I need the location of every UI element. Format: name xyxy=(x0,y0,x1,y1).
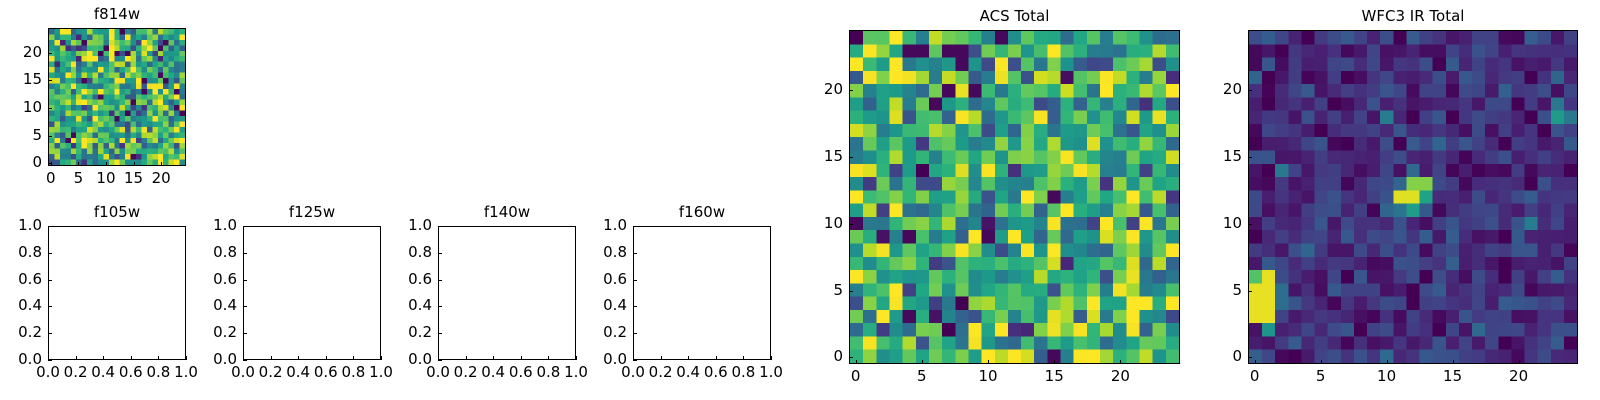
f105w-ytick-label: 0.2 xyxy=(0,325,42,340)
f140w-ytick-label: 0.4 xyxy=(370,298,432,313)
acs-total-xtick-label: 20 xyxy=(1090,369,1150,384)
f160w-ytick-label: 0.4 xyxy=(565,298,627,313)
f105w-ytick-mark xyxy=(48,280,52,281)
f105w-xtick-mark xyxy=(158,356,159,360)
f125w-ytick-label: 0.6 xyxy=(175,272,237,287)
f125w-ytick-mark xyxy=(243,226,247,227)
f160w-xtick-mark xyxy=(771,356,772,360)
f105w-title: f105w xyxy=(48,205,186,220)
acs-total-xtick-label: 0 xyxy=(826,369,886,384)
wfc3-ir-total-ytick-mark xyxy=(1248,291,1252,292)
f160w-ytick-label: 1.0 xyxy=(565,218,627,233)
f140w-ytick-label: 0.2 xyxy=(370,325,432,340)
wfc3-ir-total-xtick-label: 10 xyxy=(1357,369,1417,384)
f160w-xtick-mark xyxy=(743,356,744,360)
f160w-ytick-label: 0.2 xyxy=(565,325,627,340)
wfc3-ir-total-xtick-label: 20 xyxy=(1489,369,1549,384)
f105w-xtick-mark xyxy=(131,356,132,360)
f140w-ytick-label: 0.8 xyxy=(370,245,432,260)
f814w-ytick-mark xyxy=(48,53,52,54)
f140w-ytick-mark xyxy=(438,333,442,334)
f125w-ytick-label: 0.2 xyxy=(175,325,237,340)
wfc3-ir-total-xtick-mark xyxy=(1453,360,1454,364)
f160w-ytick-mark xyxy=(633,360,637,361)
wfc3-ir-total-title: WFC3 IR Total xyxy=(1248,9,1578,24)
f105w-ytick-mark xyxy=(48,306,52,307)
f160w-ytick-mark xyxy=(633,333,637,334)
f125w-axes xyxy=(243,226,381,360)
f160w-ytick-mark xyxy=(633,306,637,307)
acs-total-xtick-label: 10 xyxy=(958,369,1018,384)
f125w-xtick-mark xyxy=(353,356,354,360)
f814w-ytick-label: 20 xyxy=(0,45,42,60)
f160w-xtick-mark xyxy=(716,356,717,360)
wfc3-ir-total-ytick-label: 10 xyxy=(1180,216,1242,231)
acs-total-ytick-label: 10 xyxy=(781,216,843,231)
acs-total-ytick-mark xyxy=(849,357,853,358)
f125w-ytick-mark xyxy=(243,253,247,254)
f140w-title: f140w xyxy=(438,205,576,220)
f160w-xtick-mark xyxy=(688,356,689,360)
f105w-ytick-label: 1.0 xyxy=(0,218,42,233)
acs-total-axes xyxy=(849,30,1180,364)
f125w-ytick-mark xyxy=(243,280,247,281)
f814w-xtick-mark xyxy=(161,162,162,166)
wfc3-ir-total-xtick-label: 0 xyxy=(1225,369,1285,384)
acs-total-image xyxy=(850,31,1179,363)
f160w-xtick-label: 1.0 xyxy=(741,365,801,380)
f814w-xtick-label: 20 xyxy=(131,171,191,186)
f105w-ytick-label: 0.4 xyxy=(0,298,42,313)
f105w-axes xyxy=(48,226,186,360)
f160w-ytick-mark xyxy=(633,253,637,254)
wfc3-ir-total-xtick-mark xyxy=(1255,360,1256,364)
f160w-ytick-label: 0.6 xyxy=(565,272,627,287)
wfc3-ir-total-ytick-mark xyxy=(1248,157,1252,158)
wfc3-ir-total-ytick-label: 20 xyxy=(1180,82,1242,97)
f105w-xtick-mark xyxy=(103,356,104,360)
acs-total-xtick-mark xyxy=(1120,360,1121,364)
f105w-ytick-label: 0.6 xyxy=(0,272,42,287)
f125w-xtick-label: 1.0 xyxy=(351,365,411,380)
f160w-ytick-label: 0.0 xyxy=(565,352,627,367)
f814w-ytick-label: 0 xyxy=(0,155,42,170)
f125w-ytick-mark xyxy=(243,306,247,307)
f814w-ytick-label: 15 xyxy=(0,72,42,87)
f140w-xtick-mark xyxy=(548,356,549,360)
f125w-xtick-mark xyxy=(271,356,272,360)
f125w-ytick-mark xyxy=(243,333,247,334)
f814w-image xyxy=(49,29,185,165)
f105w-xtick-mark xyxy=(76,356,77,360)
f140w-ytick-mark xyxy=(438,360,442,361)
f814w-ytick-mark xyxy=(48,163,52,164)
f125w-ytick-label: 1.0 xyxy=(175,218,237,233)
acs-total-title: ACS Total xyxy=(849,9,1180,24)
f814w-ytick-mark xyxy=(48,136,52,137)
acs-total-ytick-mark xyxy=(849,291,853,292)
f140w-axes xyxy=(438,226,576,360)
f140w-ytick-label: 0.0 xyxy=(370,352,432,367)
wfc3-ir-total-xtick-mark xyxy=(1519,360,1520,364)
f140w-xtick-label: 1.0 xyxy=(546,365,606,380)
f140w-ytick-mark xyxy=(438,306,442,307)
f140w-ytick-mark xyxy=(438,280,442,281)
acs-total-xtick-mark xyxy=(988,360,989,364)
acs-total-xtick-label: 15 xyxy=(1024,369,1084,384)
f105w-xtick-label: 1.0 xyxy=(156,365,216,380)
f125w-xtick-mark xyxy=(298,356,299,360)
wfc3-ir-total-ytick-label: 5 xyxy=(1180,283,1242,298)
f105w-ytick-label: 0.8 xyxy=(0,245,42,260)
acs-total-xtick-mark xyxy=(922,360,923,364)
f140w-ytick-label: 1.0 xyxy=(370,218,432,233)
wfc3-ir-total-ytick-mark xyxy=(1248,357,1252,358)
matplotlib-figure: f814w0510152005101520f105w0.00.20.40.60.… xyxy=(0,0,1600,400)
wfc3-ir-total-ytick-label: 15 xyxy=(1180,149,1242,164)
f140w-xtick-mark xyxy=(466,356,467,360)
f814w-title: f814w xyxy=(48,7,186,22)
f814w-xtick-mark xyxy=(78,162,79,166)
acs-total-ytick-label: 20 xyxy=(781,82,843,97)
acs-total-ytick-mark xyxy=(849,157,853,158)
f160w-ytick-mark xyxy=(633,280,637,281)
f160w-ytick-mark xyxy=(633,226,637,227)
wfc3-ir-total-xtick-label: 5 xyxy=(1291,369,1351,384)
wfc3-ir-total-ytick-mark xyxy=(1248,224,1252,225)
f160w-axes xyxy=(633,226,771,360)
f140w-ytick-mark xyxy=(438,226,442,227)
acs-total-xtick-mark xyxy=(1054,360,1055,364)
f140w-ytick-label: 0.6 xyxy=(370,272,432,287)
f814w-ytick-label: 10 xyxy=(0,100,42,115)
f140w-ytick-mark xyxy=(438,253,442,254)
f814w-xtick-mark xyxy=(134,162,135,166)
acs-total-ytick-label: 0 xyxy=(781,349,843,364)
f125w-ytick-label: 0.8 xyxy=(175,245,237,260)
wfc3-ir-total-ytick-mark xyxy=(1248,90,1252,91)
f105w-ytick-mark xyxy=(48,253,52,254)
wfc3-ir-total-axes xyxy=(1248,30,1578,364)
f125w-title: f125w xyxy=(243,205,381,220)
f814w-ytick-mark xyxy=(48,80,52,81)
f140w-xtick-mark xyxy=(521,356,522,360)
f125w-ytick-mark xyxy=(243,360,247,361)
acs-total-xtick-label: 5 xyxy=(892,369,952,384)
f125w-ytick-label: 0.0 xyxy=(175,352,237,367)
f105w-ytick-mark xyxy=(48,226,52,227)
f160w-ytick-label: 0.8 xyxy=(565,245,627,260)
acs-total-ytick-label: 5 xyxy=(781,283,843,298)
f814w-axes xyxy=(48,28,186,166)
wfc3-ir-total-xtick-mark xyxy=(1387,360,1388,364)
wfc3-ir-total-image xyxy=(1249,31,1577,363)
f125w-xtick-mark xyxy=(326,356,327,360)
wfc3-ir-total-ytick-label: 0 xyxy=(1180,349,1242,364)
f160w-xtick-mark xyxy=(661,356,662,360)
wfc3-ir-total-xtick-label: 15 xyxy=(1423,369,1483,384)
f125w-ytick-label: 0.4 xyxy=(175,298,237,313)
f105w-ytick-mark xyxy=(48,333,52,334)
wfc3-ir-total-xtick-mark xyxy=(1321,360,1322,364)
f160w-title: f160w xyxy=(633,205,771,220)
f140w-xtick-mark xyxy=(493,356,494,360)
f105w-ytick-label: 0.0 xyxy=(0,352,42,367)
f105w-ytick-mark xyxy=(48,360,52,361)
acs-total-ytick-mark xyxy=(849,224,853,225)
f814w-xtick-mark xyxy=(106,162,107,166)
f814w-ytick-mark xyxy=(48,108,52,109)
acs-total-ytick-label: 15 xyxy=(781,149,843,164)
acs-total-xtick-mark xyxy=(856,360,857,364)
acs-total-ytick-mark xyxy=(849,90,853,91)
f814w-ytick-label: 5 xyxy=(0,128,42,143)
